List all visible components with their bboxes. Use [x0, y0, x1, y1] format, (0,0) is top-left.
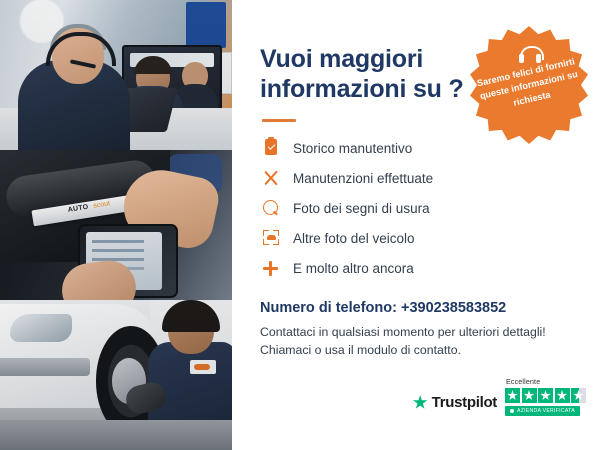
- contact-text-line-2: Chiamaci o usa il modulo di contatto.: [260, 341, 574, 359]
- photo-overlay: [0, 0, 232, 150]
- list-item: Foto dei segni di usura: [260, 198, 574, 218]
- trustpilot-logo: Trustpilot: [413, 394, 497, 416]
- star-icon-half: [571, 388, 586, 403]
- headset-icon: [520, 46, 540, 64]
- trustpilot-name: Trustpilot: [432, 394, 497, 411]
- list-item: Manutenzioni effettuate: [260, 168, 574, 188]
- feature-label: Manutenzioni effettuate: [293, 171, 433, 186]
- star-icon: [522, 388, 537, 403]
- photo-technician-tablet-vehicle-inspection: AUTOscout: [0, 150, 232, 300]
- plus-icon: [260, 258, 282, 278]
- request-info-badge: Saremo felici di fornirti queste informa…: [470, 26, 588, 144]
- list-item: Altre foto del veicolo: [260, 228, 574, 248]
- photo-overlay: [0, 300, 232, 450]
- title-divider: [262, 119, 296, 122]
- verified-check-icon: [510, 409, 514, 413]
- star-icon: [538, 388, 553, 403]
- headset-earcup-left: [519, 54, 524, 63]
- page-title-line-2: informazioni su ?: [260, 75, 464, 103]
- feature-label: Storico manutentivo: [293, 141, 412, 156]
- feature-label: Foto dei segni di usura: [293, 201, 430, 216]
- contact-text-line-1: Contattaci in qualsiasi momento per ulte…: [260, 323, 574, 341]
- verified-label: AZIENDA VERIFICATA: [517, 408, 575, 414]
- headset-earcup-right: [536, 54, 541, 63]
- verified-badge: AZIENDA VERIFICATA: [505, 406, 580, 416]
- trustpilot-stars: [505, 388, 586, 403]
- phone-label: Numero di telefono:: [260, 300, 397, 316]
- photo-overlay: [0, 150, 232, 300]
- feature-label: E molto altro ancora: [293, 261, 414, 276]
- trustpilot-rating-block: Eccellente AZIENDA VERIFICATA: [505, 379, 586, 416]
- trustpilot-rating-label: Eccellente: [506, 379, 540, 386]
- star-icon: [555, 388, 570, 403]
- tools-cross-icon: [260, 168, 282, 188]
- magnifier-icon: [260, 198, 282, 218]
- photo-scan-icon: [260, 228, 282, 248]
- contact-text: Contattaci in qualsiasi momento per ulte…: [260, 323, 574, 359]
- star-icon: [505, 388, 520, 403]
- clipboard-check-icon: [260, 138, 282, 158]
- content-panel: Saremo felici di fornirti queste informa…: [232, 0, 600, 450]
- phone-line: Numero di telefono: +390238583852: [260, 300, 574, 316]
- photo-column: AUTOscout: [0, 0, 232, 450]
- trustpilot-widget[interactable]: Trustpilot Eccellente AZIENDA VERIFICATA: [413, 379, 586, 416]
- photo-mechanic-wheel-workshop: [0, 300, 232, 450]
- list-item: E molto altro ancora: [260, 258, 574, 278]
- phone-number[interactable]: +390238583852: [401, 300, 506, 316]
- page-title-line-1: Vuoi maggiori: [260, 45, 423, 73]
- photo-call-center-agents-headsets: [0, 0, 232, 150]
- feature-label: Altre foto del veicolo: [293, 231, 415, 246]
- promo-poster: AUTOscout: [0, 0, 600, 450]
- trustpilot-star-icon: [413, 395, 428, 410]
- feature-list: Storico manutentivo Manutenzioni effettu…: [260, 138, 574, 278]
